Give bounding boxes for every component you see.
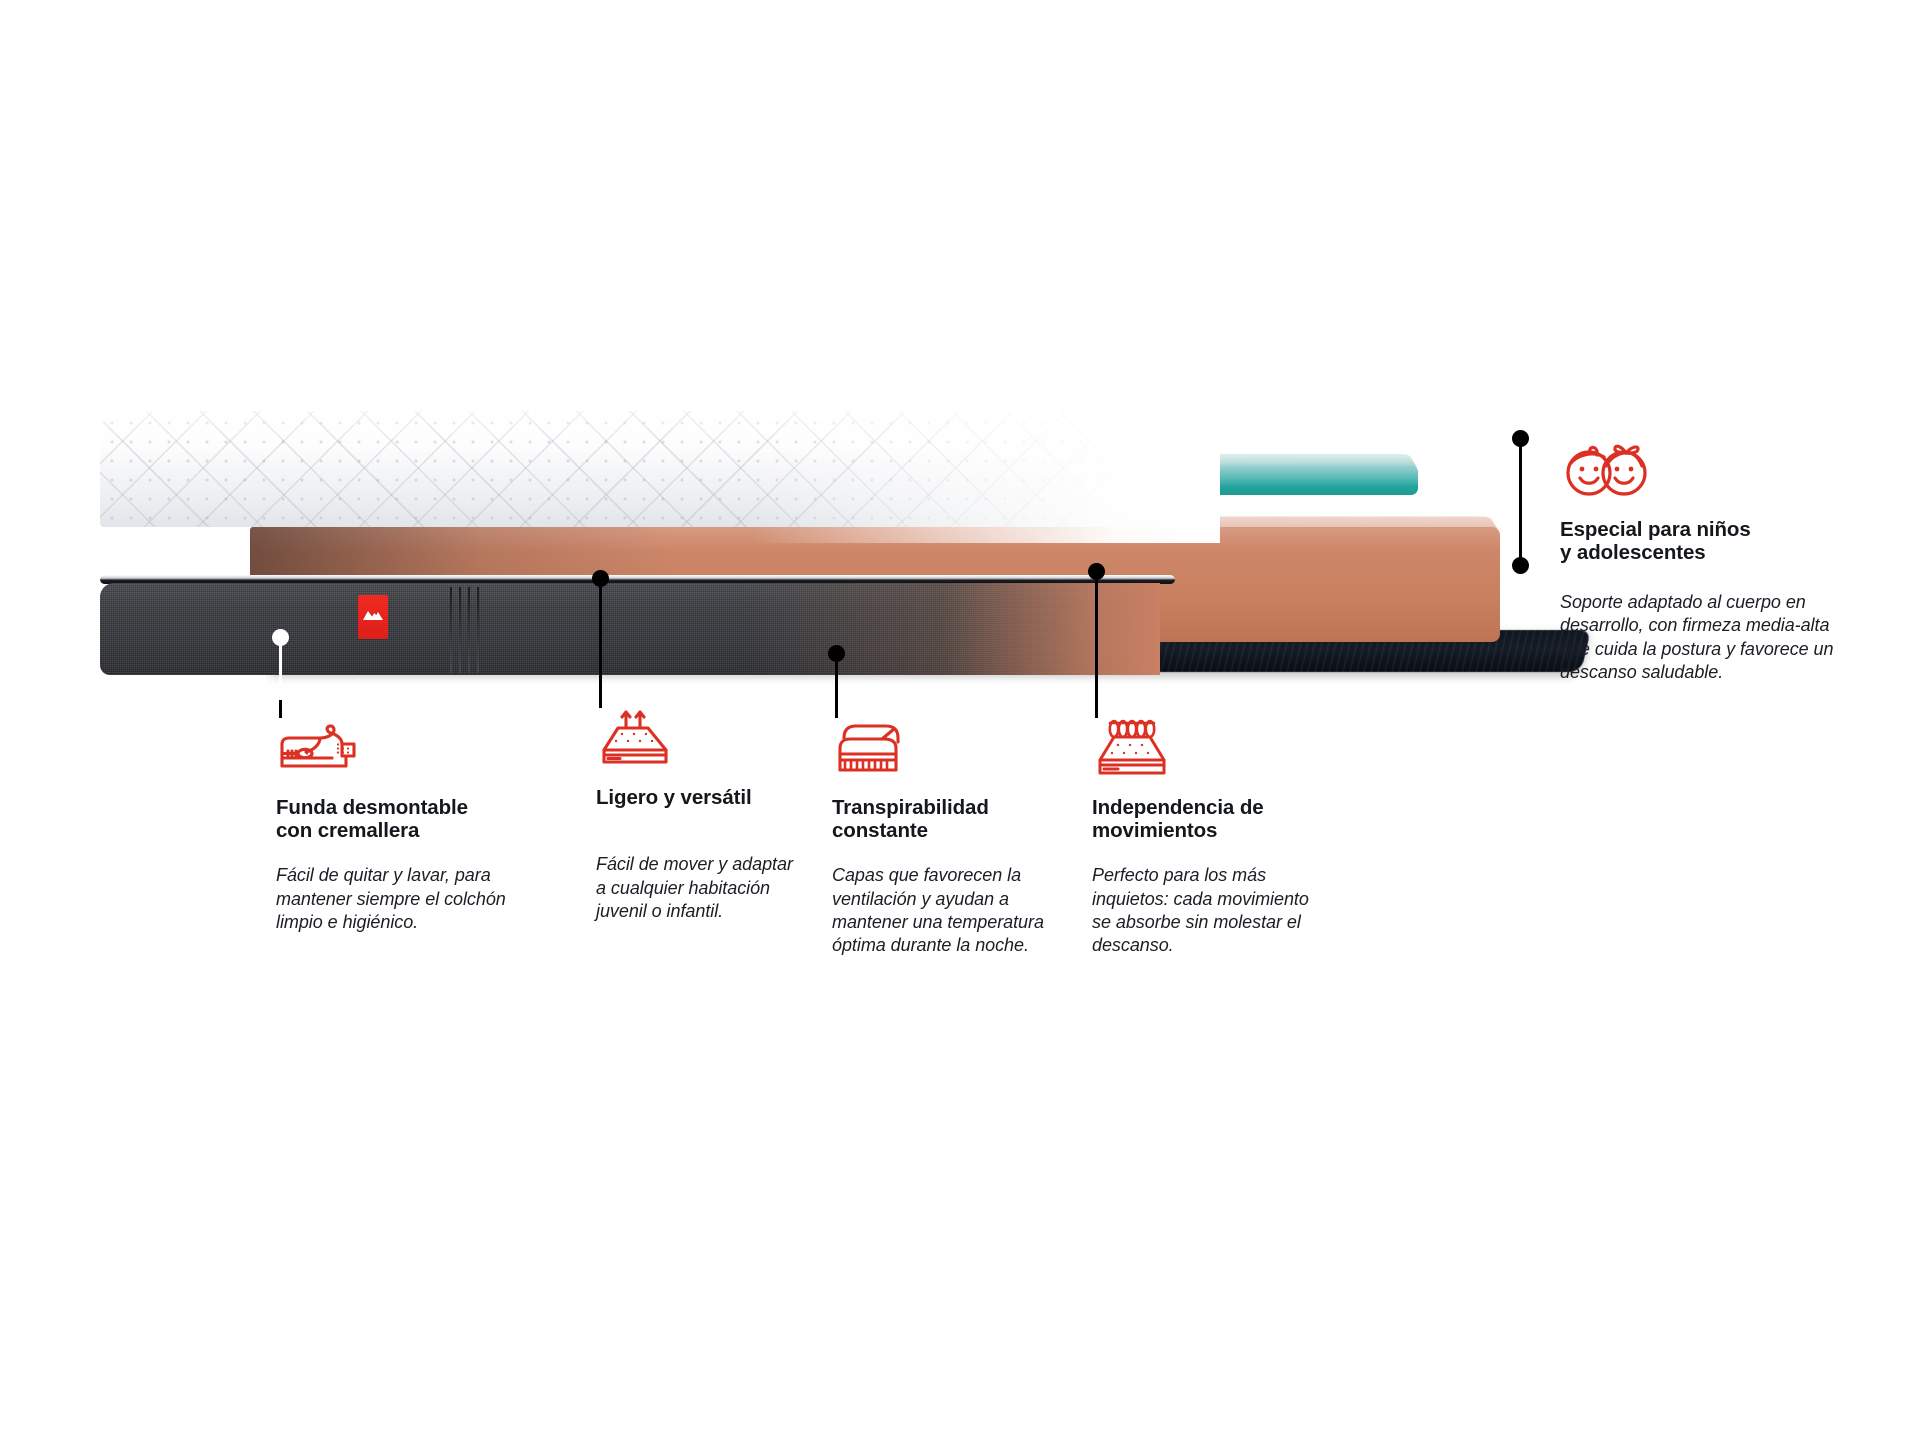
highlight-title: Especial para niños y adolescentes: [1560, 518, 1835, 565]
zipper-seam: [450, 587, 510, 673]
feature-funda-desmontable: Funda desmontable con cremallera Fácil d…: [276, 718, 511, 934]
feature-body: Perfecto para los más inquietos: cada mo…: [1092, 864, 1322, 958]
feature-title: Ligero y versátil: [596, 786, 796, 809]
feature-title-line1: Ligero y versátil: [596, 786, 752, 809]
feature-title-line2: con cremallera: [276, 819, 419, 842]
highlight-body: Soporte adaptado al cuerpo en desarrollo…: [1560, 591, 1835, 685]
feature-body: Capas que favorecen la ventilación y ayu…: [832, 864, 1047, 958]
infographic-canvas: Funda desmontable con cremallera Fácil d…: [0, 0, 1907, 1430]
leader-line-2: [599, 578, 602, 708]
leader-line-4: [1095, 571, 1098, 718]
layer-quilted-cover: [100, 393, 1220, 543]
measure-cap-bottom: [1512, 557, 1529, 574]
feature-title-line1: Independencia de: [1092, 796, 1264, 819]
mattress-zipper-cover-icon: [276, 718, 511, 780]
feature-title: Funda desmontable con cremallera: [276, 796, 511, 842]
feature-independencia-movimientos: Independencia de movimientos Perfecto pa…: [1092, 718, 1322, 958]
feature-title: Independencia de movimientos: [1092, 796, 1322, 842]
brand-logo-tag: [358, 595, 388, 639]
feature-especial-ninos-adolescentes: Especial para niños y adolescentes Sopor…: [1560, 440, 1835, 684]
mattress-product-image: [100, 455, 1480, 705]
leader-line-3: [835, 653, 838, 718]
mountain-logo-icon: [361, 607, 385, 623]
measure-cap-top: [1512, 430, 1529, 447]
feature-transpirabilidad: Transpirabilidad constante Capas que fav…: [832, 718, 1047, 958]
feature-title-line2: movimientos: [1092, 819, 1217, 842]
mattress-arrows-up-icon: [596, 708, 796, 770]
feature-body: Fácil de mover y adaptar a cualquier hab…: [596, 853, 796, 923]
zip-border-fabric: [100, 583, 1160, 675]
cover-fade-out: [750, 393, 1220, 543]
mattress-height-measure: [1519, 438, 1522, 566]
feature-title-line2: constante: [832, 819, 928, 842]
feature-title: Transpirabilidad constante: [832, 796, 1047, 842]
mattress-ventilation-icon: [832, 718, 1047, 780]
highlight-title-line1: Especial para niños: [1560, 518, 1751, 541]
leader-line-1-upper: [279, 637, 282, 709]
two-children-faces-icon: [1560, 440, 1835, 500]
mattress-springs-icon: [1092, 718, 1322, 780]
feature-body: Fácil de quitar y lavar, para mantener s…: [276, 864, 511, 934]
feature-ligero-versatil: Ligero y versátil Fácil de mover y adapt…: [596, 708, 796, 923]
highlight-title-line2: y adolescentes: [1560, 541, 1706, 564]
leader-line-1-lower: [279, 700, 282, 718]
feature-title-line1: Transpirabilidad: [832, 796, 989, 819]
feature-title-line1: Funda desmontable: [276, 796, 468, 819]
